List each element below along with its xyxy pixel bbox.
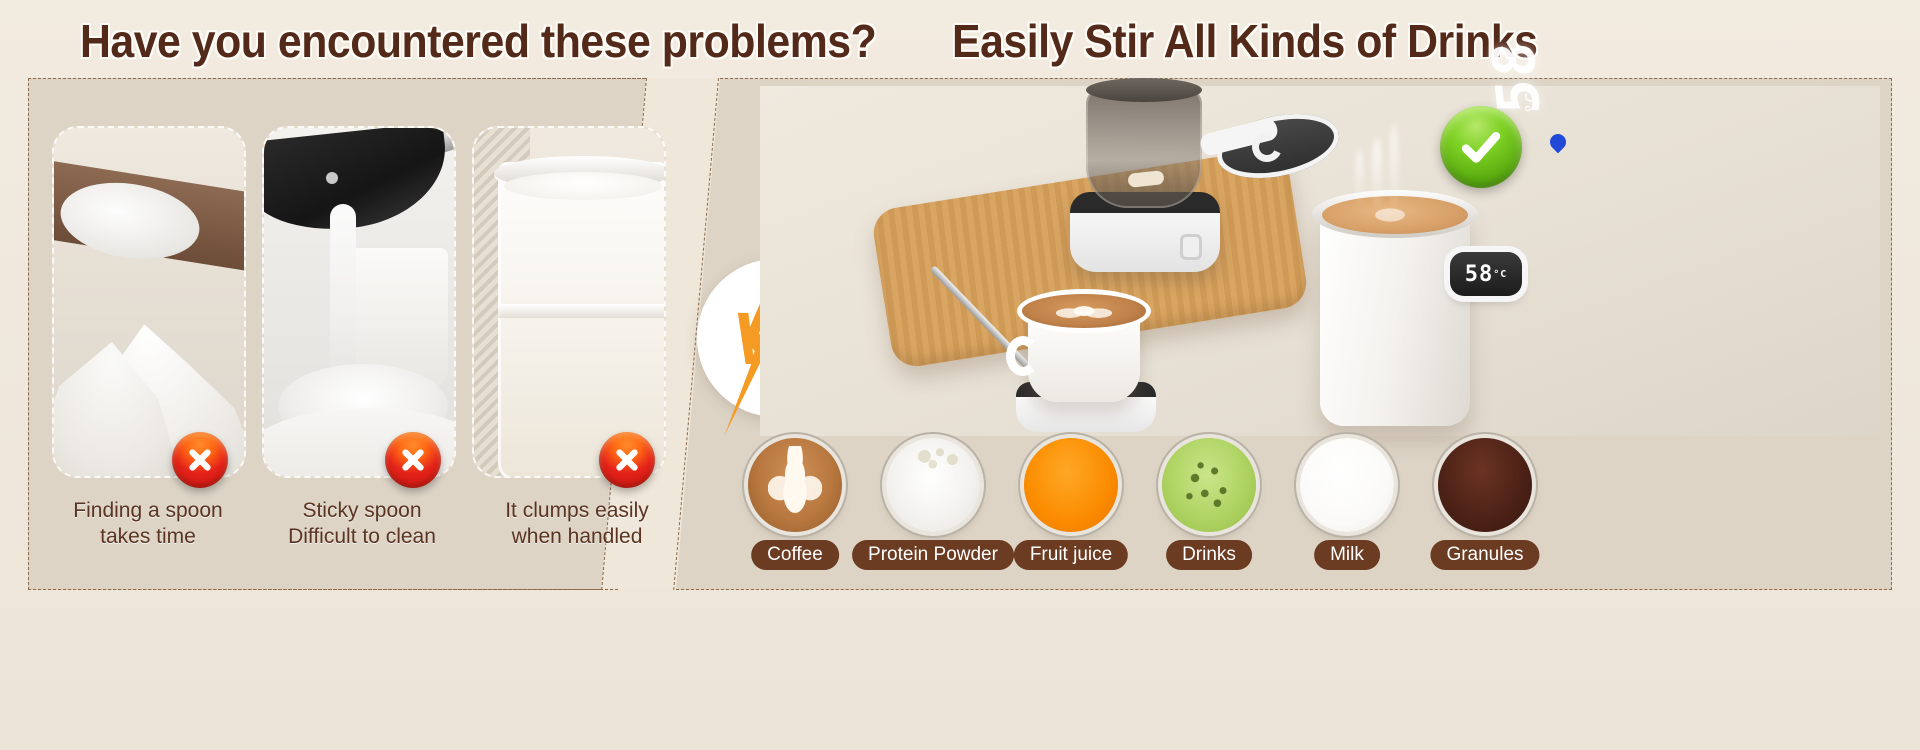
drink-swatches: Coffee Protein Powder Fruit juice Drinks… — [748, 438, 1888, 588]
problem-photo-1 — [52, 126, 246, 478]
swatch-label-drinks: Drinks — [1166, 540, 1252, 570]
insulated-tumbler-shape — [1320, 206, 1470, 426]
glass-shape — [498, 162, 666, 478]
cross-icon — [599, 432, 655, 488]
spoon-powder-photo — [54, 128, 244, 476]
swatch-label-milk: Milk — [1314, 540, 1380, 570]
swatch-drinks — [1162, 438, 1256, 532]
temperature-display: 58 °C — [1450, 252, 1522, 296]
steam-shape — [1372, 138, 1382, 212]
ladle-shape — [262, 126, 452, 238]
problem-caption-2: Sticky spoon Difficult to clean — [252, 498, 472, 550]
cross-icon — [172, 432, 228, 488]
problem-caption-3: It clumps easily when handled — [467, 498, 687, 550]
solution-panel-border-top — [720, 78, 1892, 79]
latte-art-shape — [1056, 298, 1112, 324]
glass-cup-rim-shape — [1086, 78, 1202, 102]
check-icon — [1440, 106, 1522, 188]
ladle-highlight-shape — [326, 172, 338, 184]
problem-caption-2-line2: Difficult to clean — [252, 524, 472, 550]
swatch-label-coffee: Coffee — [751, 540, 839, 570]
temperature-value: 58 — [1465, 262, 1494, 287]
problem-tiles — [52, 126, 652, 516]
problem-caption-3-line1: It clumps easily — [467, 498, 687, 524]
swatch-label-granules: Granules — [1430, 540, 1539, 570]
swatch-fruit-juice — [1024, 438, 1118, 532]
steam-shape — [1356, 148, 1363, 208]
swatch-label-protein-powder: Protein Powder — [852, 540, 1014, 570]
swatch-protein-powder — [886, 438, 980, 532]
latte-mug-handle-shape — [1006, 336, 1040, 376]
problem-caption-1-line1: Finding a spoon — [38, 498, 258, 524]
swatch-milk — [1300, 438, 1394, 532]
swatch-coffee — [748, 438, 842, 532]
cup-base-clip-shape — [1180, 234, 1202, 260]
sticky-ladle-photo — [264, 128, 454, 476]
right-panel-heading: Easily Stir All Kinds of Drinks — [952, 12, 1537, 70]
solution-panel-border-bottom — [676, 589, 1892, 590]
headings: Have you encountered these problems? Eas… — [0, 8, 1920, 74]
problem-caption-1-line2: takes time — [38, 524, 258, 550]
tumbler-swirl-shape — [1356, 200, 1424, 230]
swatch-granules — [1438, 438, 1532, 532]
solution-panel-border-right — [1891, 78, 1892, 590]
swatch-label-fruit-juice: Fruit juice — [1014, 540, 1128, 570]
problem-caption-3-line2: when handled — [467, 524, 687, 550]
product-hero-photo: 58 °C 58 °C — [760, 86, 1880, 436]
problem-photo-3 — [472, 126, 666, 478]
problems-panel-border-left — [28, 78, 29, 590]
problems-panel-border-top — [28, 78, 645, 79]
infographic-root: Have you encountered these problems? Eas… — [0, 0, 1920, 750]
glass-stirring-cup-shape — [1086, 88, 1202, 208]
left-panel-heading: Have you encountered these problems? — [80, 12, 876, 70]
milk-glass-photo — [474, 128, 664, 476]
milk-surface-shape — [504, 172, 662, 200]
cross-icon — [385, 432, 441, 488]
problem-caption-2-line1: Sticky spoon — [252, 498, 472, 524]
projected-temperature-unit: °C — [1522, 92, 1543, 114]
problems-panel-border-bottom — [28, 589, 618, 590]
steam-shape — [1390, 124, 1398, 214]
problem-caption-1: Finding a spoon takes time — [38, 498, 258, 550]
glass-band-shape — [498, 304, 666, 318]
problem-photo-2 — [262, 126, 456, 478]
temperature-unit: °C — [1493, 269, 1507, 280]
